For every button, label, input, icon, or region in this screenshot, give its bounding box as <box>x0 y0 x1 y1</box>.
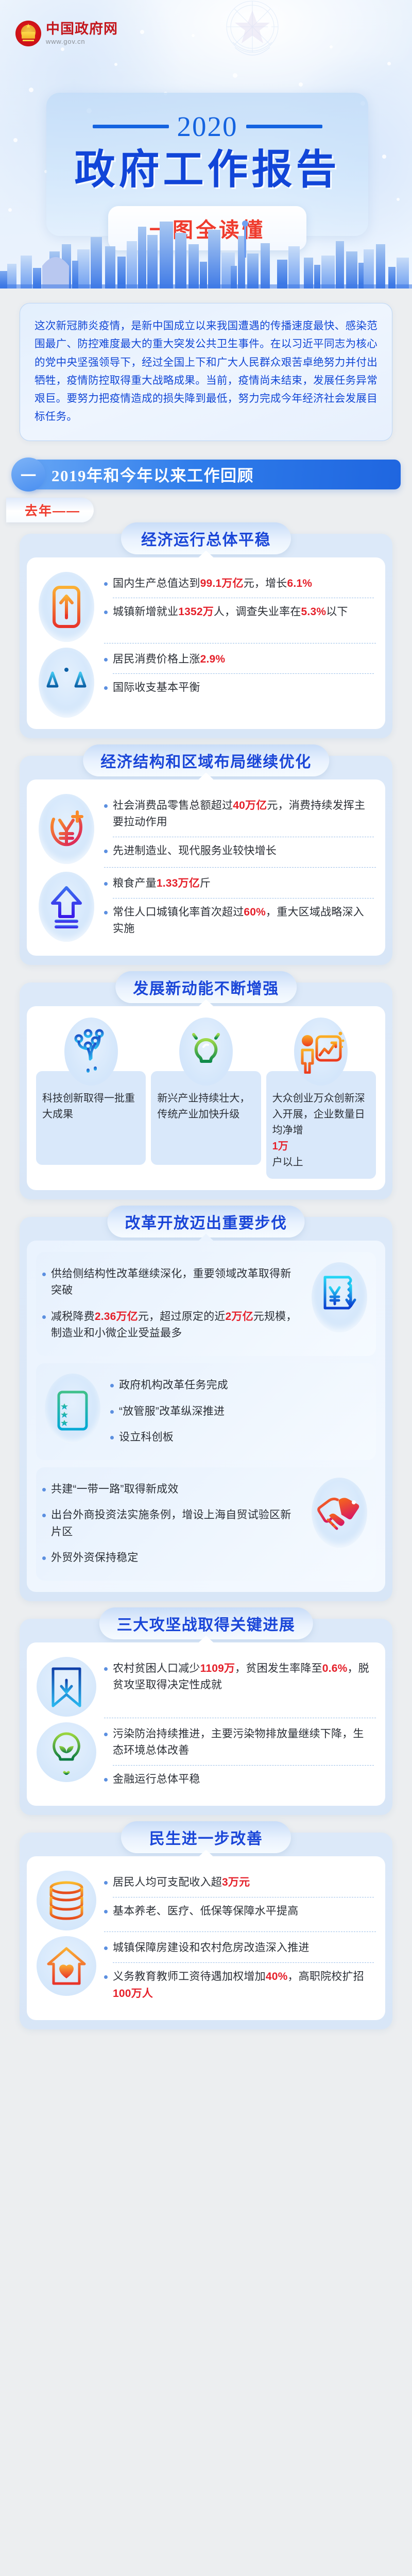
text-fragment: 城镇新增就业 <box>113 606 178 618</box>
bullet-dot-icon <box>104 1881 108 1885</box>
person-chart-icon <box>297 1029 345 1074</box>
card-title: 发展新动能不断增强 <box>133 976 279 998</box>
text-fragment: ，高职院校扩招 <box>287 1971 364 1982</box>
bullet-dot-icon <box>104 1667 108 1671</box>
bullet-dot-icon <box>104 1778 108 1782</box>
icon-column <box>36 1868 97 1930</box>
text-fragment: 居民人均可支配收入超 <box>113 1876 222 1888</box>
bullet-item: 政府机构改革任务完成 <box>110 1372 368 1399</box>
bullet-text: 出台外商投资法实施条例，增设上海自贸试验区新片区 <box>51 1507 300 1540</box>
up-arrow-thermometer-icon <box>50 585 82 629</box>
dashed-separator <box>113 1897 374 1897</box>
text-fragment: 基本养老、医疗、低保等保障水平提高 <box>113 1905 298 1917</box>
text-fragment: 出台外商投资法实施条例，增设上海自贸试验区新片区 <box>51 1509 291 1538</box>
card-title-pill: 经济结构和区域布局继续优化 <box>83 744 329 776</box>
yuan-plus-icon-wrapper <box>39 794 94 864</box>
green-leaf-bulb-icon <box>46 1730 87 1775</box>
dashed-separator <box>104 1718 376 1718</box>
bullet-dot-icon <box>104 882 108 886</box>
bullet-list: 农村贫困人口减少1109万，贫困发生率降至0.6%，脱贫攻坚取得决定性成就 <box>104 1654 376 1701</box>
highlight-value: 1.33万亿 <box>157 877 200 889</box>
bullet-dot-icon <box>104 1910 108 1913</box>
text-fragment: 供给侧结构性改革继续深化，重要领域改革取得新突破 <box>51 1268 291 1297</box>
bullet-item: 城镇新增就业1352万人，调查失业率在5.3%以下 <box>104 599 374 625</box>
card-row: 污染防治持续推进，主要污染物排放量继续下降，生态环境总体改善金融运行总体平稳 <box>36 1719 376 1795</box>
bullet-item: 居民消费价格上涨2.9% <box>104 647 374 673</box>
bullet-text: 基本养老、医疗、低保等保障水平提高 <box>113 1903 298 1920</box>
bullet-item: 外贸外资保持稳定 <box>42 1545 300 1571</box>
bullet-text: 先进制造业、现代服务业较快增长 <box>113 843 277 860</box>
info-card: 发展新动能不断增强科技创新取得一批重大成果新兴产业持续壮大，传统产业加快升级大众… <box>20 982 392 1199</box>
dashed-separator <box>104 867 376 868</box>
card-title-pill: 民生进一步改善 <box>121 1821 291 1853</box>
up-arrow-grain-icon <box>48 885 84 929</box>
year-tag: 去年—— <box>6 498 94 522</box>
yuan-plus-icon <box>46 808 87 850</box>
circuit-tech-icon <box>73 1027 110 1076</box>
bullet-text: 国内生产总值达到99.1万亿元，增长6.1% <box>113 575 312 592</box>
bullet-item: 供给侧结构性改革继续深化，重要领域改革取得新突破 <box>42 1261 300 1304</box>
info-card: 经济结构和区域布局继续优化社会消费品零售总额超过40万亿元，消费持续发挥主要拉动… <box>20 756 392 965</box>
text-fragment: 国内生产总值达到 <box>113 578 200 589</box>
cards-container: 经济运行总体平稳国内生产总值达到99.1万亿元，增长6.1%城镇新增就业1352… <box>0 529 412 2050</box>
bullet-text: 居民消费价格上涨2.9% <box>113 651 225 668</box>
bullet-list: 城镇保障房建设和农村危房改造深入推进义务教育教师工资待遇加权增加40%，高职院校… <box>104 1933 376 2009</box>
bullet-list: 粮食产量1.33万亿斤常住人口城镇化率首次超过60%，重大区域战略深入实施 <box>104 869 376 944</box>
card-body: 国内生产总值达到99.1万亿元，增长6.1%城镇新增就业1352万人，调查失业率… <box>27 557 385 729</box>
card-body: 社会消费品零售总额超过40万亿元，消费持续发挥主要拉动作用先进制造业、现代服务业… <box>27 779 385 956</box>
text-fragment: 国际收支基本平衡 <box>113 682 200 693</box>
card-body: 农村贫困人口减少1109万，贫困发生率降至0.6%，脱贫攻坚取得决定性成就污染防… <box>27 1642 385 1806</box>
dashed-separator <box>113 837 374 837</box>
bullet-dot-icon <box>104 850 108 853</box>
bullet-text: 粮食产量1.33万亿斤 <box>113 875 211 892</box>
bullet-item: 国内生产总值达到99.1万亿元，增长6.1% <box>104 571 374 597</box>
icon-column <box>36 791 97 864</box>
bullet-text: 城镇新增就业1352万人，调查失业率在5.3%以下 <box>113 604 348 621</box>
city-skyline-illustration <box>0 206 412 289</box>
highlight-value: 2.36万亿 <box>95 1311 138 1323</box>
info-card: 改革开放迈出重要步伐供给侧结构性改革继续深化，重要领域改革取得新突破减税降费2.… <box>20 1217 392 1601</box>
icon-column <box>36 1654 97 1717</box>
bullet-text: 义务教育教师工资待遇加权增加40%，高职院校扩招100万人 <box>113 1969 374 2002</box>
text-fragment: 城镇保障房建设和农村危房改造深入推进 <box>113 1942 310 1954</box>
lightbulb-icon-wrapper <box>179 1018 233 1086</box>
icon-column <box>36 869 97 942</box>
hero-title: 政府工作报告 <box>46 149 368 192</box>
text-fragment: 政府机构改革任务完成 <box>119 1379 228 1391</box>
dashed-separator <box>113 1765 374 1766</box>
bullet-item: “放管服”改革纵深推进 <box>110 1399 368 1425</box>
info-card: 三大攻坚战取得关键进展农村贫困人口减少1109万，贫困发生率降至0.6%，脱贫攻… <box>20 1619 392 1816</box>
bullet-text: 污染防治持续推进，主要污染物排放量继续下降，生态环境总体改善 <box>113 1726 374 1759</box>
dashed-separator <box>113 898 374 899</box>
bullet-dot-icon <box>42 1514 46 1517</box>
three-column-group: 科技创新取得一批重大成果新兴产业持续壮大，传统产业加快升级大众创业万众创新深入开… <box>36 1018 376 1179</box>
bullet-dot-icon <box>104 1975 108 1979</box>
bullet-item: 居民人均可支配收入超3万元 <box>104 1870 374 1896</box>
up-arrow-thermometer-icon-wrapper <box>39 572 94 642</box>
card-title-pill: 改革开放迈出重要步伐 <box>108 1206 305 1238</box>
bullet-item: 义务教育教师工资待遇加权增加40%，高职院校扩招100万人 <box>104 1964 374 2007</box>
handshake-icon <box>316 1491 363 1534</box>
text-fragment: “放管服”改革纵深推进 <box>119 1405 225 1417</box>
text-fragment: 义务教育教师工资待遇加权增加 <box>113 1971 266 1982</box>
section-bar: 一 2019年和今年以来工作回顾 <box>25 460 401 489</box>
card-title: 经济运行总体平稳 <box>141 527 271 550</box>
bullet-dot-icon <box>104 911 108 914</box>
sub-block: 政府机构改革任务完成“放管服”改革纵深推进设立科创板 <box>36 1363 376 1460</box>
icon-column <box>36 1719 97 1782</box>
bullet-text: 外贸外资保持稳定 <box>51 1550 139 1567</box>
bullet-text: 常住人口城镇化率首次超过60%，重大区域战略深入实施 <box>113 904 374 938</box>
text-fragment: 科技创新取得一批重大成果 <box>42 1091 140 1123</box>
highlight-value: 99.1万亿 <box>200 578 244 589</box>
bullet-text: 金融运行总体平稳 <box>113 1771 200 1788</box>
dashed-separator <box>113 1962 374 1963</box>
card-row: 城镇保障房建设和农村危房改造深入推进义务教育教师工资待遇加权增加40%，高职院校… <box>36 1933 376 2009</box>
icon-column <box>36 569 97 642</box>
bullet-text: 社会消费品零售总额超过40万亿元，消费持续发挥主要拉动作用 <box>113 798 374 831</box>
balance-scale-icon-wrapper <box>39 648 94 718</box>
icon-column <box>309 1259 370 1332</box>
clipboard-checklist-icon-wrapper <box>45 1374 100 1444</box>
card-row: 社会消费品零售总额超过40万亿元，消费持续发挥主要拉动作用先进制造业、现代服务业… <box>36 791 376 867</box>
text-fragment: 元，增长 <box>244 578 287 589</box>
circuit-tech-icon-wrapper <box>64 1018 118 1086</box>
dashed-separator <box>104 1931 376 1932</box>
bullet-dot-icon <box>110 1410 114 1414</box>
text-fragment: 户以上 <box>272 1155 370 1171</box>
text-fragment: 减税降费 <box>51 1311 95 1323</box>
national-emblem-icon <box>15 21 41 46</box>
card-title: 经济结构和区域布局继续优化 <box>100 749 312 772</box>
bullet-dot-icon <box>42 1488 46 1492</box>
bullet-item: 共建“一带一路”取得新成效 <box>42 1477 300 1503</box>
bullet-dot-icon <box>42 1315 46 1319</box>
dashed-separator <box>113 598 374 598</box>
site-url: www.gov.cn <box>46 38 118 45</box>
highlight-value: 100万人 <box>113 1988 153 1999</box>
highlight-value: 3万元 <box>222 1876 250 1888</box>
highlight-value: 5.3% <box>301 606 327 618</box>
icon-column <box>309 1475 370 1548</box>
highlight-value: 1109万 <box>200 1663 235 1674</box>
text-fragment: 金融运行总体平稳 <box>113 1773 200 1785</box>
person-chart-icon-wrapper <box>294 1018 348 1086</box>
highlight-value: 40% <box>266 1971 288 1982</box>
card-row: 供给侧结构性改革继续深化，重要领域改革取得新突破减税降费2.36万亿元，超过原定… <box>42 1259 370 1349</box>
green-leaf-bulb-icon-wrapper <box>37 1722 96 1782</box>
bullet-text: 设立科创板 <box>119 1429 174 1446</box>
text-fragment: 污染防治持续推进，主要污染物排放量继续下降，生态环境总体改善 <box>113 1728 364 1757</box>
hero-banner: 中国政府网 www.gov.cn 2020 政府工作报告 一图全读懂 <box>0 0 412 289</box>
bullet-text: 居民人均可支配收入超3万元 <box>113 1874 250 1891</box>
highlight-value: 40万亿 <box>233 800 267 811</box>
text-fragment: 大众创业万众创新深入开展，企业数量日均净增 <box>272 1091 370 1139</box>
card-body: 科技创新取得一批重大成果新兴产业持续壮大，传统产业加快升级大众创业万众创新深入开… <box>27 1006 385 1190</box>
intro-section: 这次新冠肺炎疫情，是新中国成立以来我国遭遇的传播速度最快、感染范围最广、防控难度… <box>0 289 412 446</box>
text-fragment: 设立科创板 <box>119 1431 174 1443</box>
highlight-value: 2万亿 <box>226 1311 253 1323</box>
text-fragment: 先进制造业、现代服务业较快增长 <box>113 845 277 857</box>
bullet-dot-icon <box>104 1733 108 1736</box>
bullet-item: 先进制造业、现代服务业较快增长 <box>104 838 374 865</box>
card-row: 国内生产总值达到99.1万亿元，增长6.1%城镇新增就业1352万人，调查失业率… <box>36 569 376 642</box>
text-fragment: 外贸外资保持稳定 <box>51 1552 139 1564</box>
card-row: 居民消费价格上涨2.9%国际收支基本平衡 <box>36 645 376 718</box>
bullet-item: 设立科创板 <box>110 1425 368 1451</box>
bullet-list: 居民消费价格上涨2.9%国际收支基本平衡 <box>104 645 376 703</box>
bullet-text: 减税降费2.36万亿元，超过原定的近2万亿元规模，制造业和小微企业受益最多 <box>51 1309 300 1342</box>
bullet-text: 城镇保障房建设和农村危房改造深入推进 <box>113 1940 310 1957</box>
bullet-item: 金融运行总体平稳 <box>104 1767 374 1793</box>
bullet-dot-icon <box>104 582 108 586</box>
coin-stack-icon-wrapper <box>37 1871 96 1930</box>
section-number-badge: 一 <box>11 457 45 492</box>
bullet-item: 减税降费2.36万亿元，超过原定的近2万亿元规模，制造业和小微企业受益最多 <box>42 1304 300 1347</box>
card-body: 供给侧结构性改革继续深化，重要领域改革取得新突破减税降费2.36万亿元，超过原定… <box>27 1241 385 1592</box>
card-row: 共建“一带一路”取得新成效出台外商投资法实施条例，增设上海自贸试验区新片区外贸外… <box>42 1475 370 1573</box>
highlight-value: 6.1% <box>287 578 313 589</box>
feature-text: 科技创新取得一批重大成果 <box>42 1091 140 1123</box>
card-body: 居民人均可支配收入超3万元基本养老、医疗、低保等保障水平提高城镇保障房建设和农村… <box>27 1856 385 2020</box>
icon-column <box>42 1370 103 1444</box>
bullet-text: 政府机构改革任务完成 <box>119 1377 228 1394</box>
house-heart-icon <box>44 1944 89 1988</box>
site-logo[interactable]: 中国政府网 www.gov.cn <box>15 21 118 46</box>
feature-text: 新兴产业持续壮大，传统产业加快升级 <box>157 1091 254 1123</box>
text-fragment: 共建“一带一路”取得新成效 <box>51 1483 179 1495</box>
dashed-separator <box>104 643 376 643</box>
yuan-down-tax-icon <box>320 1274 359 1320</box>
coin-stack-icon <box>44 1879 89 1922</box>
bullet-list: 国内生产总值达到99.1万亿元，增长6.1%城镇新增就业1352万人，调查失业率… <box>104 569 376 628</box>
house-heart-icon-wrapper <box>37 1936 96 1996</box>
feature-text-box: 大众创业万众创新深入开展，企业数量日均净增1万户以上 <box>266 1071 376 1179</box>
bullet-dot-icon <box>104 611 108 614</box>
bullet-text: 农村贫困人口减少1109万，贫困发生率降至0.6%，脱贫攻坚取得决定性成就 <box>113 1660 374 1694</box>
icon-column <box>36 1933 97 1996</box>
bullet-dot-icon <box>104 658 108 662</box>
card-row: 居民人均可支配收入超3万元基本养老、医疗、低保等保障水平提高 <box>36 1868 376 1930</box>
card-title: 三大攻坚战取得关键进展 <box>117 1612 296 1635</box>
text-fragment: 以下 <box>326 606 348 618</box>
bullet-list: 共建“一带一路”取得新成效出台外商投资法实施条例，增设上海自贸试验区新片区外贸外… <box>42 1475 302 1573</box>
feature-column: 科技创新取得一批重大成果 <box>36 1018 146 1179</box>
year-rule-right <box>246 125 322 128</box>
banner-down-arrow-icon-wrapper <box>37 1657 96 1717</box>
highlight-value: 60% <box>244 906 266 918</box>
bullet-dot-icon <box>110 1384 114 1387</box>
bullet-item: 城镇保障房建设和农村危房改造深入推进 <box>104 1935 374 1961</box>
up-arrow-grain-icon-wrapper <box>39 872 94 942</box>
year-rule-left <box>93 125 169 128</box>
bullet-dot-icon <box>42 1556 46 1560</box>
dashed-separator <box>113 673 374 674</box>
card-title-pill: 经济运行总体平稳 <box>121 522 291 554</box>
balance-scale-icon <box>46 662 87 704</box>
bullet-list: 居民人均可支配收入超3万元基本养老、医疗、低保等保障水平提高 <box>104 1868 376 1926</box>
bullet-item: 粮食产量1.33万亿斤 <box>104 871 374 897</box>
bullet-dot-icon <box>104 686 108 690</box>
clipboard-checklist-icon <box>54 1385 92 1432</box>
text-fragment: 新兴产业持续壮大，传统产业加快升级 <box>157 1091 254 1123</box>
highlight-value: 0.6% <box>322 1663 348 1674</box>
text-fragment: 常住人口城镇化率首次超过 <box>113 906 244 918</box>
bullet-list: 供给侧结构性改革继续深化，重要领域改革取得新突破减税降费2.36万亿元，超过原定… <box>42 1259 302 1349</box>
bullet-text: 国际收支基本平衡 <box>113 680 200 697</box>
bullet-item: 农村贫困人口减少1109万，贫困发生率降至0.6%，脱贫攻坚取得决定性成就 <box>104 1656 374 1699</box>
bullet-dot-icon <box>104 804 108 808</box>
bullet-text: “放管服”改革纵深推进 <box>119 1403 225 1420</box>
feature-column: 新兴产业持续壮大，传统产业加快升级 <box>151 1018 261 1179</box>
highlight-value: 1352万 <box>178 606 214 618</box>
feature-column: 大众创业万众创新深入开展，企业数量日均净增1万户以上 <box>266 1018 376 1179</box>
highlight-value: 2.9% <box>200 653 226 665</box>
bullet-list: 污染防治持续推进，主要污染物排放量继续下降，生态环境总体改善金融运行总体平稳 <box>104 1719 376 1795</box>
sub-block: 供给侧结构性改革继续深化，重要领域改革取得新突破减税降费2.36万亿元，超过原定… <box>36 1252 376 1356</box>
bullet-list: 社会消费品零售总额超过40万亿元，消费持续发挥主要拉动作用先进制造业、现代服务业… <box>104 791 376 867</box>
intro-card: 这次新冠肺炎疫情，是新中国成立以来我国遭遇的传播速度最快、感染范围最广、防控难度… <box>20 303 392 441</box>
bullet-dot-icon <box>110 1436 114 1439</box>
highlight-value: 1万 <box>272 1141 288 1152</box>
bullet-item: 国际收支基本平衡 <box>104 675 374 701</box>
yuan-down-tax-icon-wrapper <box>312 1262 367 1332</box>
text-fragment: 粮食产量 <box>113 877 157 889</box>
bullet-dot-icon <box>104 1946 108 1950</box>
text-fragment: 居民消费价格上涨 <box>113 653 200 665</box>
bullet-text: 供给侧结构性改革继续深化，重要领域改革取得新突破 <box>51 1266 300 1299</box>
intro-paragraph: 这次新冠肺炎疫情，是新中国成立以来我国遭遇的传播速度最快、感染范围最广、防控难度… <box>35 317 377 426</box>
info-card: 民生进一步改善居民人均可支配收入超3万元基本养老、医疗、低保等保障水平提高城镇保… <box>20 1833 392 2029</box>
section-header: 一 2019年和今年以来工作回顾 去年—— <box>0 446 412 529</box>
card-title: 民生进一步改善 <box>149 1826 263 1849</box>
card-title: 改革开放迈出重要步伐 <box>125 1210 287 1233</box>
card-row: 粮食产量1.33万亿斤常住人口城镇化率首次超过60%，重大区域战略深入实施 <box>36 869 376 944</box>
card-row: 政府机构改革任务完成“放管服”改革纵深推进设立科创板 <box>42 1370 370 1453</box>
bullet-list: 政府机构改革任务完成“放管服”改革纵深推进设立科创板 <box>110 1370 370 1453</box>
text-fragment: 人，调查失业率在 <box>214 606 301 618</box>
card-title-pill: 三大攻坚战取得关键进展 <box>99 1607 313 1639</box>
bullet-item: 基本养老、医疗、低保等保障水平提高 <box>104 1899 374 1925</box>
handshake-icon-wrapper <box>312 1478 367 1548</box>
card-row: 农村贫困人口减少1109万，贫困发生率降至0.6%，脱贫攻坚取得决定性成就 <box>36 1654 376 1717</box>
feature-text: 大众创业万众创新深入开展，企业数量日均净增1万户以上 <box>272 1091 370 1171</box>
text-fragment: 元，超过原定的近 <box>138 1311 226 1323</box>
bullet-item: 出台外商投资法实施条例，增设上海自贸试验区新片区 <box>42 1502 300 1545</box>
bullet-item: 常住人口城镇化率首次超过60%，重大区域战略深入实施 <box>104 900 374 942</box>
icon-column <box>36 645 97 718</box>
bullet-item: 社会消费品零售总额超过40万亿元，消费持续发挥主要拉动作用 <box>104 793 374 836</box>
text-fragment: 农村贫困人口减少 <box>113 1663 200 1674</box>
hero-year: 2020 <box>177 112 238 141</box>
site-name: 中国政府网 <box>46 22 118 36</box>
section-title: 2019年和今年以来工作回顾 <box>51 463 254 486</box>
hero-year-row: 2020 <box>46 112 368 141</box>
lightbulb-icon <box>185 1028 227 1075</box>
info-card: 经济运行总体平稳国内生产总值达到99.1万亿元，增长6.1%城镇新增就业1352… <box>20 534 392 738</box>
text-fragment: 社会消费品零售总额超过 <box>113 800 233 811</box>
bullet-text: 共建“一带一路”取得新成效 <box>51 1481 179 1498</box>
bullet-dot-icon <box>42 1273 46 1276</box>
text-fragment: ，贫困发生率降至 <box>235 1663 322 1674</box>
bullet-item: 污染防治持续推进，主要污染物排放量继续下降，生态环境总体改善 <box>104 1721 374 1764</box>
sub-block: 共建“一带一路”取得新成效出台外商投资法实施条例，增设上海自贸试验区新片区外贸外… <box>36 1467 376 1581</box>
card-title-pill: 发展新动能不断增强 <box>115 971 297 1003</box>
banner-down-arrow-icon <box>47 1665 86 1709</box>
text-fragment: 斤 <box>200 877 211 889</box>
